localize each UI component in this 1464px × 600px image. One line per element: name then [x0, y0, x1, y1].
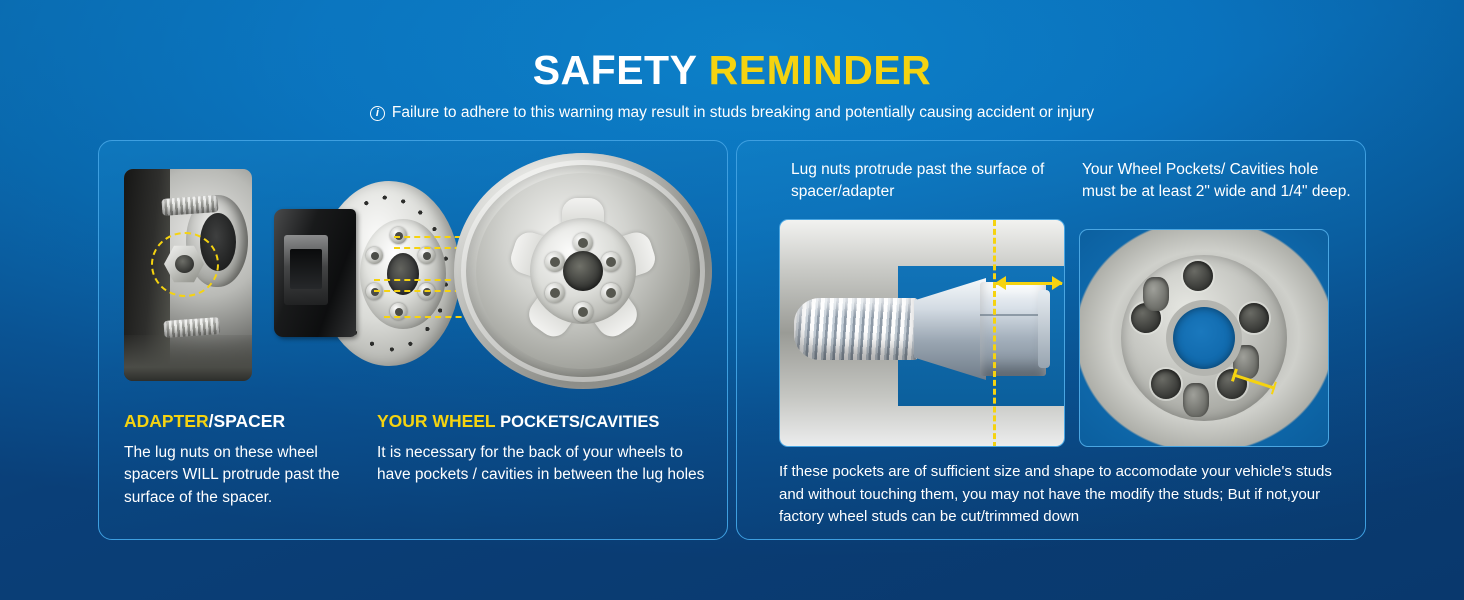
page-title: SAFETY REMINDER [0, 50, 1464, 91]
caption-2-head-yellow: YOUR WHEEL [377, 411, 495, 431]
right-panel: Lug nuts protrude past the surface of sp… [736, 140, 1366, 540]
brake-caliper-rotor-assembly [274, 181, 459, 366]
pocket-center-bore [1173, 307, 1235, 369]
arrow-head-left [995, 276, 1006, 290]
caption-your-wheel-body: It is necessary for the back of your whe… [377, 442, 707, 488]
info-icon: i [370, 106, 385, 121]
right-heading-wheel-pockets: Your Wheel Pockets/ Cavities hole must b… [1082, 159, 1352, 203]
left-panel: ADAPTER/SPACER The lug nuts on these whe… [98, 140, 728, 540]
caption-adapter-spacer-heading: ADAPTER/SPACER [124, 413, 364, 431]
title-reminder: REMINDER [709, 47, 932, 93]
title-safety: SAFETY [533, 47, 697, 93]
pocket-lug-hole-4 [1151, 369, 1181, 399]
lug-nut-highlight-circle [151, 232, 219, 297]
bolt-threaded-shank [794, 298, 918, 360]
pocket-lug-hole-2 [1239, 303, 1269, 333]
right-heading-lug-nuts: Lug nuts protrude past the surface of sp… [791, 159, 1061, 203]
hub-center-bore [387, 253, 419, 295]
brake-caliper [274, 209, 356, 337]
wheel-lug-1 [573, 233, 593, 253]
arrow-head-right [1052, 276, 1063, 290]
caption-2-head-white: POCKETS/CAVITIES [500, 413, 659, 431]
pocket-lug-hole-1 [1183, 261, 1213, 291]
bolt-head-cap [1038, 290, 1050, 368]
wheel-pocket-cavity-photo [1079, 229, 1329, 447]
protrusion-measurement-arrow [996, 276, 1062, 290]
left-panel-artwork [99, 141, 729, 401]
wheel-center-bore [563, 251, 603, 291]
right-panel-footer-text: If these pockets are of sufficient size … [779, 461, 1335, 529]
header: SAFETY REMINDER i Failure to adhere to t… [0, 0, 1464, 122]
caption-adapter-spacer-body: The lug nuts on these wheel spacers WILL… [124, 442, 364, 510]
warning-subtitle-text: Failure to adhere to this warning may re… [392, 104, 1094, 122]
caption-1-head-yellow: ADAPTER [124, 411, 209, 431]
wheel-lug-5 [545, 283, 565, 303]
alloy-wheel [454, 153, 712, 389]
wheel-spacer-photo [124, 169, 252, 381]
wheel-lug-2 [601, 252, 621, 272]
spacer-lower-shadow [124, 335, 252, 381]
lug-bolt-cross-section-diagram [779, 219, 1065, 447]
caption-1-head-white: /SPACER [209, 411, 286, 431]
bolt-hex-head [980, 282, 1046, 376]
warning-subtitle: i Failure to adhere to this warning may … [0, 104, 1464, 122]
wheel-lug-6 [545, 252, 565, 272]
caption-your-wheel-heading: YOUR WHEEL POCKETS/CAVITIES [377, 413, 707, 431]
caption-your-wheel: YOUR WHEEL POCKETS/CAVITIES It is necess… [377, 413, 707, 487]
pocket-cavity-1 [1143, 277, 1169, 311]
protrusion-reference-dashed-line [993, 220, 996, 447]
hub-lug-6 [366, 247, 383, 264]
pocket-cavity-3 [1183, 383, 1209, 417]
wheel-lug-3 [601, 283, 621, 303]
caption-adapter-spacer: ADAPTER/SPACER The lug nuts on these whe… [124, 413, 364, 510]
wheel-lug-4 [573, 302, 593, 322]
hub-lug-2 [418, 247, 435, 264]
